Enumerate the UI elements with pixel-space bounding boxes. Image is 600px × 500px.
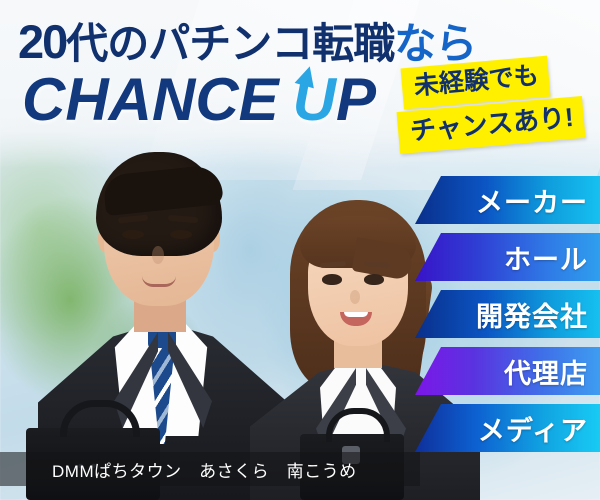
- woman-nose: [350, 290, 360, 304]
- category-label-maker: メーカー: [476, 181, 588, 220]
- credit-text: DMMぱちタウン あさくら 南こうめ: [52, 457, 357, 482]
- credit-bar: DMMぱちタウン あさくら 南こうめ: [0, 452, 420, 486]
- headline-number: 20: [18, 15, 66, 68]
- yellow-callout-badge: 未経験でも チャンスあり!: [398, 58, 598, 154]
- logo-letter-p: P: [336, 66, 376, 133]
- headline-middle: 代のパチンコ転職: [66, 20, 394, 67]
- man-eye-right: [170, 230, 192, 239]
- man-nose: [152, 246, 164, 264]
- category-button-agency[interactable]: 代理店: [415, 347, 600, 395]
- woman-eye-left: [322, 274, 342, 285]
- category-button-hall[interactable]: ホール: [415, 233, 600, 281]
- woman-eye-right: [364, 274, 384, 285]
- logo-letter-u: U: [293, 70, 336, 130]
- category-button-developer[interactable]: 開発会社: [415, 290, 600, 338]
- category-label-hall: ホール: [504, 238, 588, 277]
- category-button-media[interactable]: メディア: [415, 404, 600, 452]
- category-label-agency: 代理店: [504, 352, 588, 391]
- category-label-media: メディア: [478, 409, 588, 448]
- category-button-maker[interactable]: メーカー: [415, 176, 600, 224]
- logo-word-chance: CHANCE: [22, 66, 279, 133]
- logo-word-up: UP: [293, 66, 376, 133]
- man-hair: [96, 152, 222, 256]
- category-label-developer: 開発会社: [476, 295, 588, 334]
- logo-chance-up: CHANCEUP: [22, 70, 376, 130]
- woman-bangs: [300, 216, 416, 268]
- advertisement-banner[interactable]: 20代のパチンコ転職なら CHANCEUP 未経験でも チャンスあり! メーカー…: [0, 0, 600, 500]
- category-list: メーカー ホール 開発会社 代理店 メディア: [415, 176, 600, 452]
- man-eye-left: [122, 230, 144, 239]
